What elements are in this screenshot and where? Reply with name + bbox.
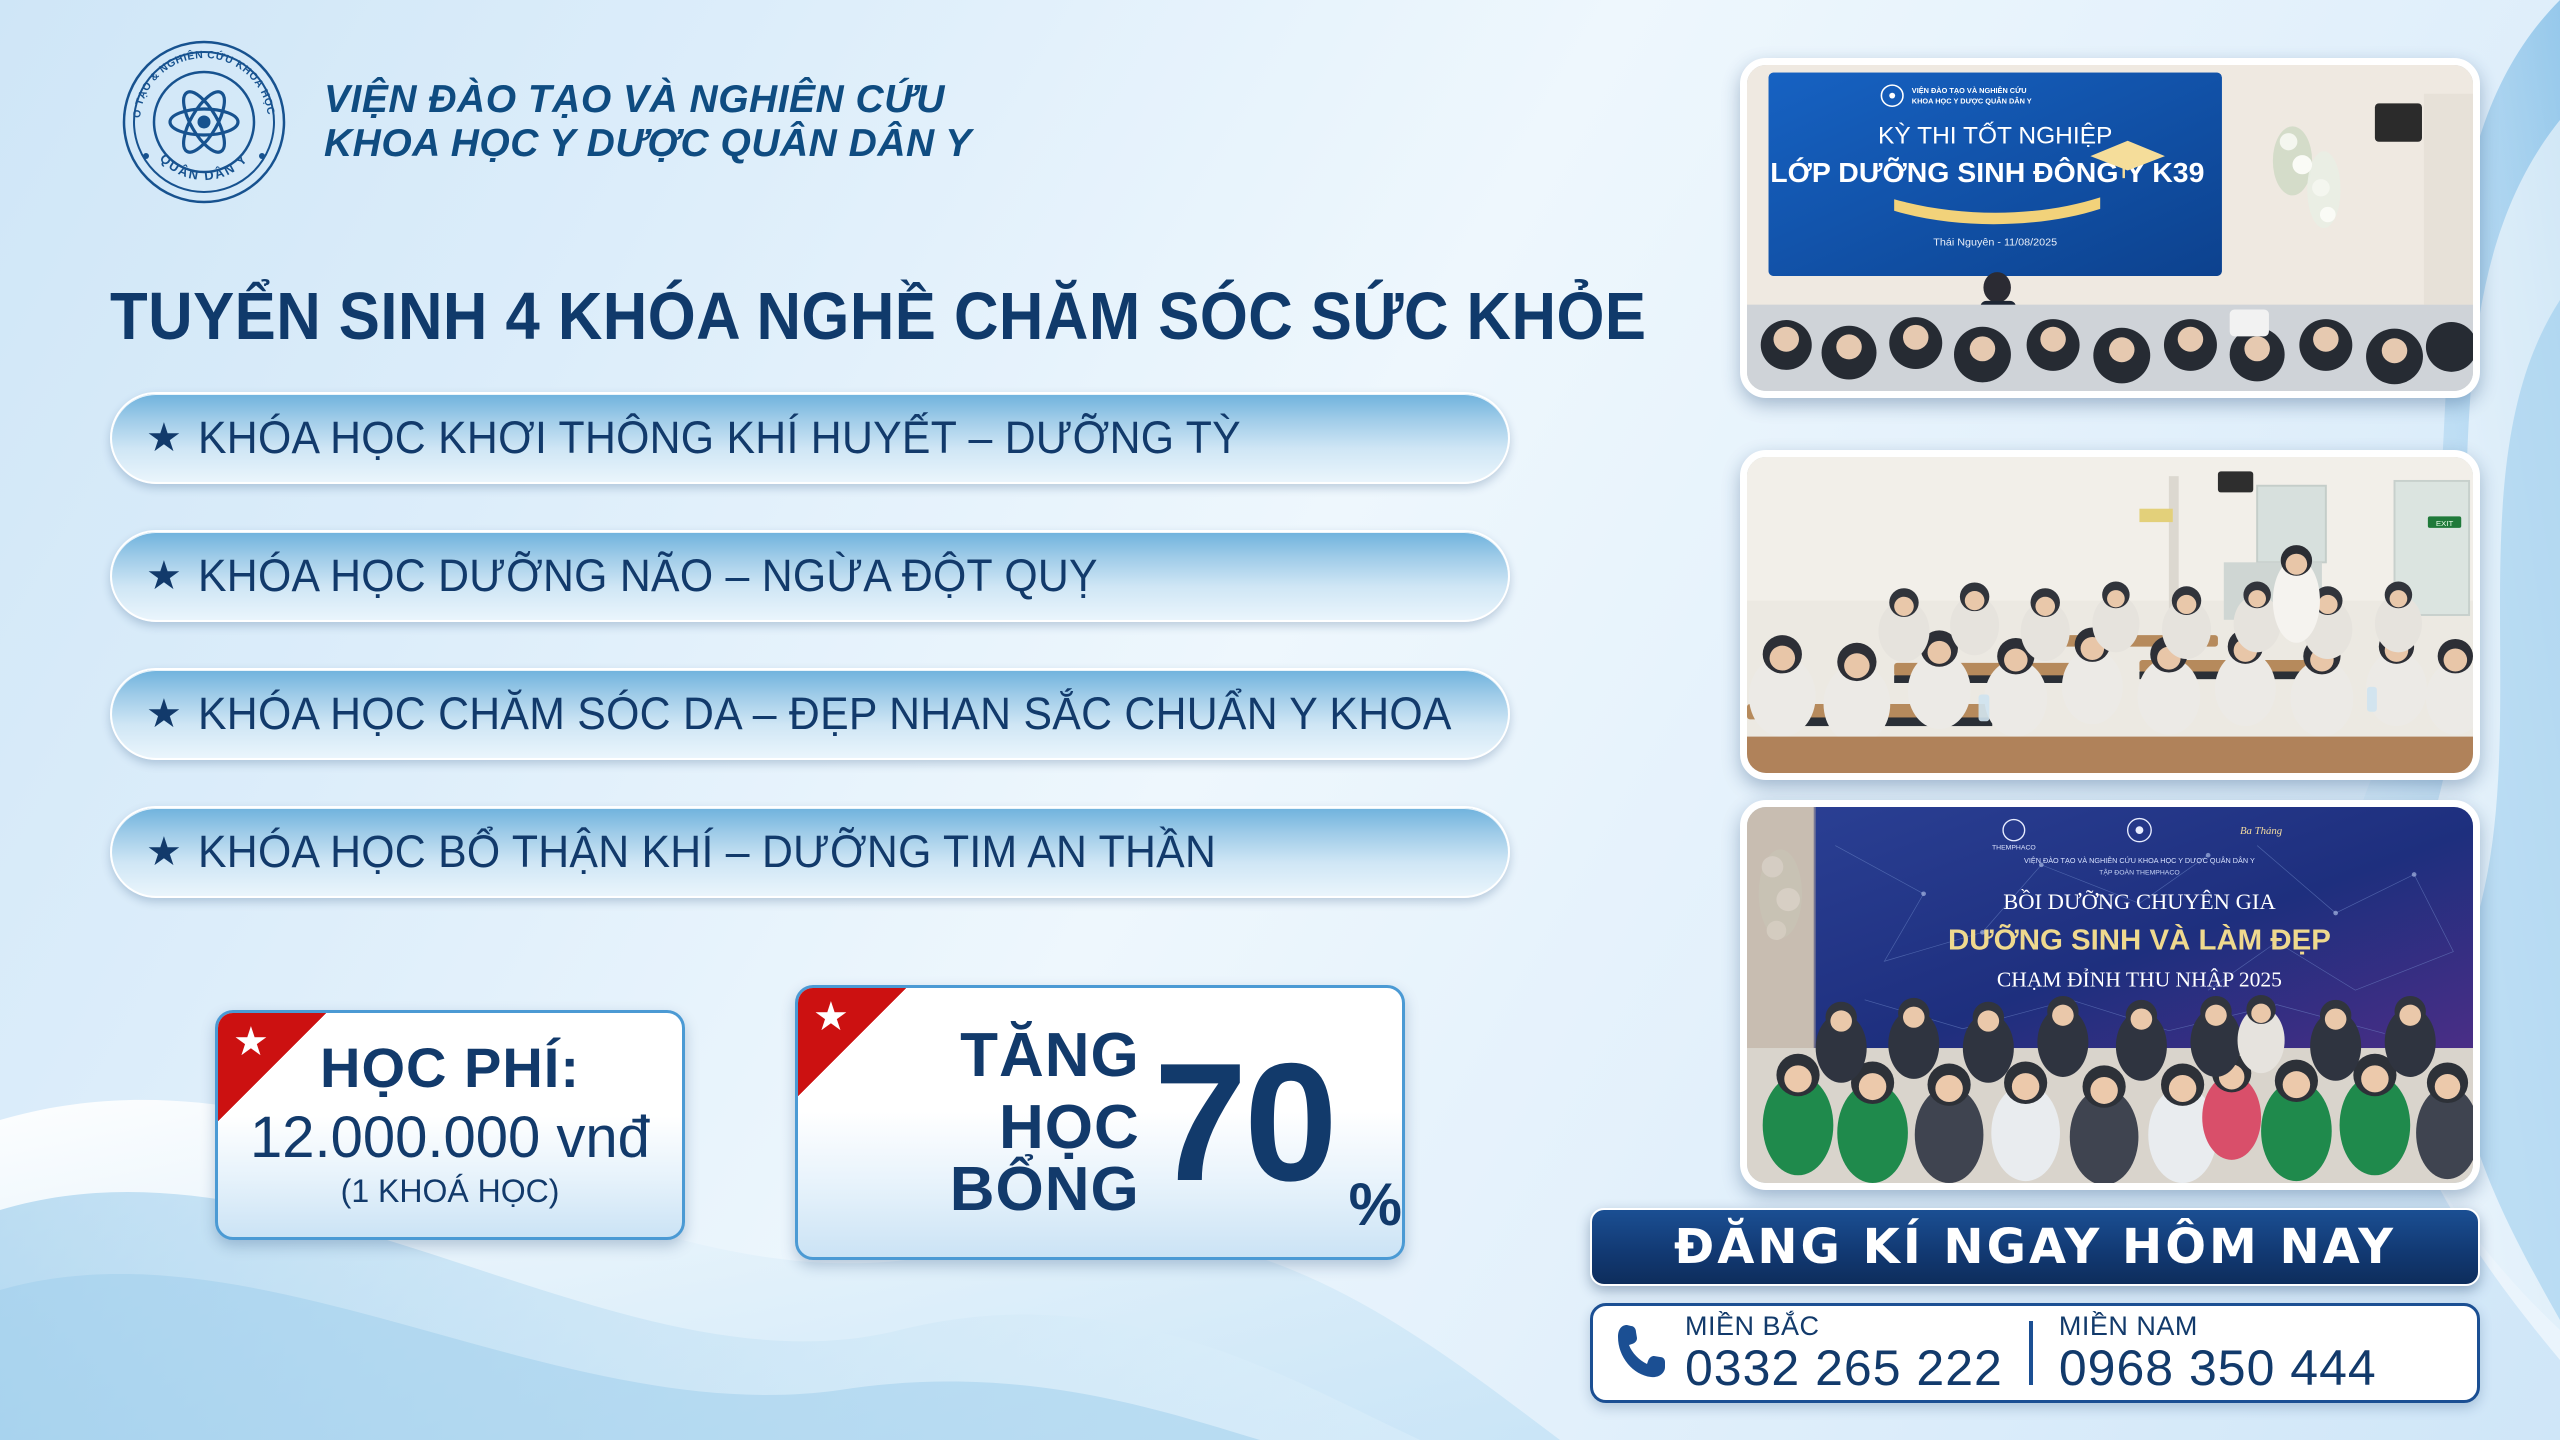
tuition-fee-badge: ★ HỌC PHÍ: 12.000.000 vnđ (1 KHOÁ HỌC): [215, 1010, 685, 1240]
photo-3-graphic: THEMPHACO Ba Tháng VIỆN ĐÀO TẠO VÀ NGHIÊ…: [1747, 807, 2473, 1183]
photo3-line2: DƯỠNG SINH VÀ LÀM ĐẸP: [1948, 923, 2331, 957]
photo1-title: KỲ THI TỐT NGHIỆP: [1878, 122, 2112, 150]
register-cta-bar[interactable]: ĐĂNG KÍ NGAY HÔM NAY: [1590, 1208, 2480, 1286]
contact-south[interactable]: MIỀN NAM 0968 350 444: [2059, 1311, 2377, 1395]
fee-note: (1 KHOÁ HỌC): [218, 1173, 682, 1210]
contact-divider: [2029, 1321, 2033, 1385]
photo3-sponsor-left: THEMPHACO: [1992, 844, 2036, 851]
photo1-org-line2: KHOA HỌC Y DƯỢC QUÂN DÂN Y: [1912, 96, 2032, 105]
phone-number-north[interactable]: 0332 265 222: [1685, 1342, 2003, 1395]
org-name-line2: KHOA HỌC Y DƯỢC QUÂN DÂN Y: [324, 122, 972, 166]
star-icon: ★: [146, 418, 182, 458]
scholarship-line1: TĂNG: [828, 1025, 1140, 1087]
group-photo: THEMPHACO Ba Tháng VIỆN ĐÀO TẠO VÀ NGHIÊ…: [1740, 800, 2480, 1190]
scholarship-words: TĂNG HỌC BỔNG: [828, 1025, 1140, 1221]
register-label: ĐĂNG KÍ NGAY HÔM NAY: [1674, 1219, 2396, 1275]
course-item-2[interactable]: ★ KHÓA HỌC DƯỠNG NÃO – NGỪA ĐỘT QUỴ: [110, 530, 1510, 622]
institute-seal: VIỆN ĐÀO TẠO & NGHIÊN CỨU KHOA HỌC Y DƯỢ…: [120, 38, 288, 206]
red-corner-ribbon: ★: [218, 1013, 326, 1121]
seal-graphic: VIỆN ĐÀO TẠO & NGHIÊN CỨU KHOA HỌC Y DƯỢ…: [120, 38, 288, 206]
scholarship-badge: ★ TĂNG HỌC BỔNG 70 %: [795, 985, 1405, 1260]
photo3-line3: CHẠM ĐỈNH THU NHẬP 2025: [1997, 967, 2282, 991]
course-label: KHÓA HỌC KHƠI THÔNG KHÍ HUYẾT – DƯỠNG TỲ: [198, 412, 1241, 464]
course-item-3[interactable]: ★ KHÓA HỌC CHĂM SÓC DA – ĐẸP NHAN SẮC CH…: [110, 668, 1510, 760]
graduation-ceremony-photo: VIỆN ĐÀO TẠO VÀ NGHIÊN CỨU KHOA HỌC Y DƯ…: [1740, 58, 2480, 398]
photo3-line1: BỒI DƯỠNG CHUYÊN GIA: [2003, 888, 2275, 914]
photo1-caption: Thái Nguyên - 11/08/2025: [1933, 236, 2057, 248]
course-label: KHÓA HỌC BỔ THẬN KHÍ – DƯỠNG TIM AN THẦN: [198, 826, 1216, 878]
scholarship-percent-value: 70: [1154, 1054, 1335, 1192]
contact-north[interactable]: MIỀN BẮC 0332 265 222: [1685, 1311, 2003, 1395]
exit-sign: EXIT: [2436, 519, 2454, 528]
classroom-students-photo: EXIT: [1740, 450, 2480, 780]
org-name-line1: VIỆN ĐÀO TẠO VÀ NGHIÊN CỨU: [324, 78, 972, 122]
phone-icon-graphic: [1615, 1321, 1669, 1381]
svg-text:QUÂN DÂN Y: QUÂN DÂN Y: [157, 151, 251, 184]
star-icon: ★: [146, 556, 182, 596]
star-icon: ★: [146, 694, 182, 734]
svg-text:Ba Tháng: Ba Tháng: [2240, 825, 2283, 837]
course-item-1[interactable]: ★ KHÓA HỌC KHƠI THÔNG KHÍ HUYẾT – DƯỠNG …: [110, 392, 1510, 484]
photo-2-graphic: EXIT: [1747, 457, 2473, 773]
phone-number-south[interactable]: 0968 350 444: [2059, 1342, 2377, 1395]
banner-canvas: VIỆN ĐÀO TẠO & NGHIÊN CỨU KHOA HỌC Y DƯỢ…: [0, 0, 2560, 1440]
star-icon: ★: [233, 1022, 269, 1062]
scholarship-line2: HỌC BỔNG: [828, 1097, 1140, 1221]
photo3-banner-org: VIỆN ĐÀO TẠO VÀ NGHIÊN CỨU KHOA HỌC Y DƯ…: [2024, 856, 2255, 865]
page-title: TUYỂN SINH 4 KHÓA NGHỀ CHĂM SÓC SỨC KHỎE: [110, 278, 1646, 355]
org-name-block: VIỆN ĐÀO TẠO VÀ NGHIÊN CỨU KHOA HỌC Y DƯ…: [324, 78, 972, 165]
percent-sign: %: [1349, 1170, 1402, 1239]
brand-header: VIỆN ĐÀO TẠO & NGHIÊN CỨU KHOA HỌC Y DƯỢ…: [120, 38, 972, 206]
photo1-org-line1: VIỆN ĐÀO TẠO VÀ NGHIÊN CỨU: [1912, 86, 2027, 95]
course-item-4[interactable]: ★ KHÓA HỌC BỔ THẬN KHÍ – DƯỠNG TIM AN TH…: [110, 806, 1510, 898]
region-label-south: MIỀN NAM: [2059, 1311, 2377, 1342]
course-list: ★ KHÓA HỌC KHƠI THÔNG KHÍ HUYẾT – DƯỠNG …: [110, 392, 1510, 944]
star-icon: ★: [146, 832, 182, 872]
course-label: KHÓA HỌC DƯỠNG NÃO – NGỪA ĐỘT QUỴ: [198, 550, 1098, 602]
region-label-north: MIỀN BẮC: [1685, 1311, 2003, 1342]
phone-icon: [1615, 1321, 1669, 1386]
photo-1-graphic: VIỆN ĐÀO TẠO VÀ NGHIÊN CỨU KHOA HỌC Y DƯ…: [1747, 65, 2473, 391]
course-label: KHÓA HỌC CHĂM SÓC DA – ĐẸP NHAN SẮC CHUẨ…: [198, 688, 1452, 740]
photo3-banner-org2: TẬP ĐOÀN THEMPHACO: [2099, 868, 2180, 877]
contact-bar: MIỀN BẮC 0332 265 222 MIỀN NAM 0968 350 …: [1590, 1303, 2480, 1403]
